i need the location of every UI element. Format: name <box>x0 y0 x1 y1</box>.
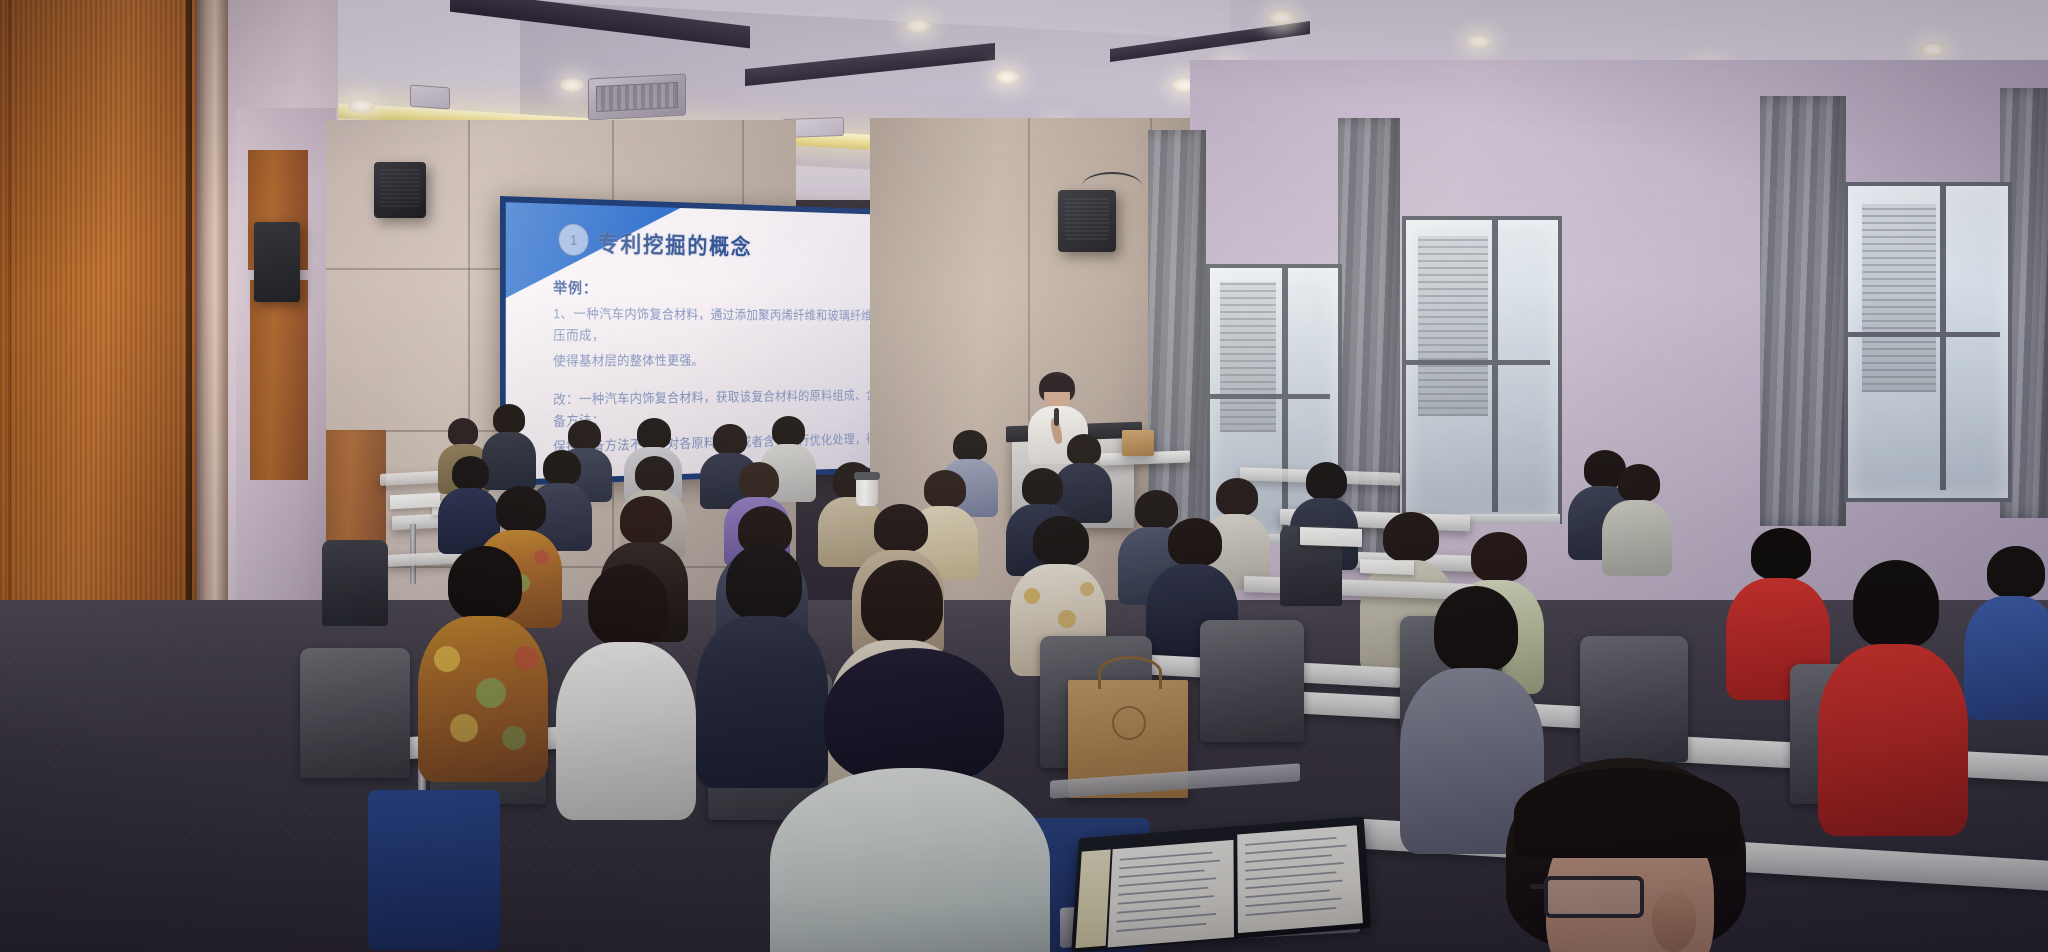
head-hair <box>635 456 674 492</box>
audience-member <box>556 564 696 814</box>
microphone <box>1054 408 1059 426</box>
window-mullion <box>1940 186 1946 490</box>
head-hair <box>1853 560 1939 648</box>
head-hair <box>1022 468 1063 506</box>
head-hair <box>924 470 966 508</box>
speaker-cable <box>1082 172 1142 200</box>
floral-motif <box>1058 610 1076 628</box>
torso <box>1964 596 2048 720</box>
head-hair <box>953 430 987 461</box>
head-hair <box>568 420 601 450</box>
window-mullion <box>1848 332 2000 337</box>
chair[interactable] <box>322 540 388 626</box>
papers <box>390 493 440 510</box>
audience-member <box>1602 464 1672 574</box>
foreground-attendee <box>770 648 1050 952</box>
ceiling-speaker <box>410 85 450 110</box>
head-hair <box>1033 516 1089 566</box>
chair[interactable] <box>1580 636 1688 762</box>
bag-handle <box>1098 656 1162 689</box>
head-hair <box>637 418 671 449</box>
ceiling-downlight <box>1466 34 1492 49</box>
head-hair <box>496 486 546 532</box>
window-view-building <box>1862 204 1936 392</box>
head-hair <box>824 648 1004 784</box>
head-hair <box>772 416 805 446</box>
torso <box>1602 500 1672 576</box>
orange-bag <box>1122 430 1154 456</box>
head-hair <box>448 546 522 620</box>
head-hair <box>1618 464 1660 502</box>
papers <box>1300 527 1362 547</box>
eyeglasses-temple <box>1530 884 1548 889</box>
floral-motif <box>1024 588 1040 604</box>
ceiling-downlight <box>348 98 375 113</box>
ceiling-downlight <box>995 70 1019 84</box>
ceiling-air-vent <box>588 73 686 120</box>
head-hair <box>861 560 943 644</box>
head-hair <box>739 462 779 499</box>
ceiling-downlight <box>905 18 931 33</box>
photo-scene: 1 专利挖掘的概念 举例： 1、一种汽车内饰复合材料，通过添加聚丙烯纤维和玻璃纤… <box>0 0 2048 952</box>
laptop-sidebar <box>1075 849 1110 948</box>
head-hair <box>452 456 489 490</box>
head-hair <box>1383 512 1439 562</box>
head-hair <box>1987 546 2045 598</box>
head-hair <box>713 424 747 455</box>
head-hair <box>1216 478 1258 516</box>
head-hair <box>1434 586 1518 672</box>
head-hair <box>588 564 668 646</box>
window-view-building <box>1220 282 1276 432</box>
foreground-attendee <box>1470 758 1800 952</box>
head-hair <box>620 496 672 544</box>
head-hair <box>1067 434 1101 465</box>
chair[interactable] <box>368 790 500 950</box>
window-view-building <box>1418 236 1488 416</box>
torso <box>1818 644 1968 836</box>
floral-motif <box>450 714 478 742</box>
window-curtain[interactable] <box>1760 96 1846 526</box>
ceiling-downlight <box>560 78 584 92</box>
window <box>1844 182 2012 502</box>
head-hair <box>1168 518 1222 566</box>
chair[interactable] <box>1200 620 1304 742</box>
ear <box>1652 890 1696 952</box>
slide-number-badge: 1 <box>559 224 589 256</box>
floral-motif <box>502 726 526 750</box>
head-hair <box>1751 528 1811 580</box>
window-mullion <box>1492 220 1498 512</box>
laptop-document-page <box>1108 840 1234 948</box>
audience-member <box>1964 546 2048 716</box>
wall-monitor <box>254 222 300 302</box>
head-hair <box>448 418 478 446</box>
ceiling-downlight <box>1920 42 1946 57</box>
window-mullion <box>1406 360 1550 365</box>
head-hair <box>726 544 802 620</box>
window-mullion <box>1282 268 1288 532</box>
ceiling-downlight <box>1268 10 1295 25</box>
window <box>1402 216 1562 524</box>
coffee-cup-lid <box>854 472 880 480</box>
head-hair <box>1306 462 1347 500</box>
wall-speaker <box>374 162 426 218</box>
floral-motif <box>476 678 506 708</box>
presenter-hair-front <box>1040 375 1074 392</box>
coffee-cup <box>856 476 878 506</box>
head-hair <box>1471 532 1527 582</box>
floral-motif <box>514 646 538 670</box>
bag-logo-icon <box>1112 706 1146 740</box>
papers <box>1360 559 1414 575</box>
head-hair-top <box>1514 768 1740 858</box>
window-mullion <box>1210 394 1330 399</box>
wood-cabinet <box>250 280 308 480</box>
audience-member <box>418 546 548 776</box>
floral-motif <box>1080 582 1094 596</box>
chair[interactable] <box>300 648 410 778</box>
eyeglasses-left-lens <box>1544 876 1644 918</box>
audience-member <box>1818 560 1968 830</box>
white-shirt <box>556 642 696 820</box>
head-hair <box>874 504 928 552</box>
white-shirt <box>770 768 1050 952</box>
laptop-document-page <box>1237 825 1363 933</box>
slide-title: 专利挖掘的概念 <box>598 225 752 261</box>
floral-motif <box>434 646 460 672</box>
head-hair <box>543 450 581 485</box>
head-hair <box>493 404 525 434</box>
